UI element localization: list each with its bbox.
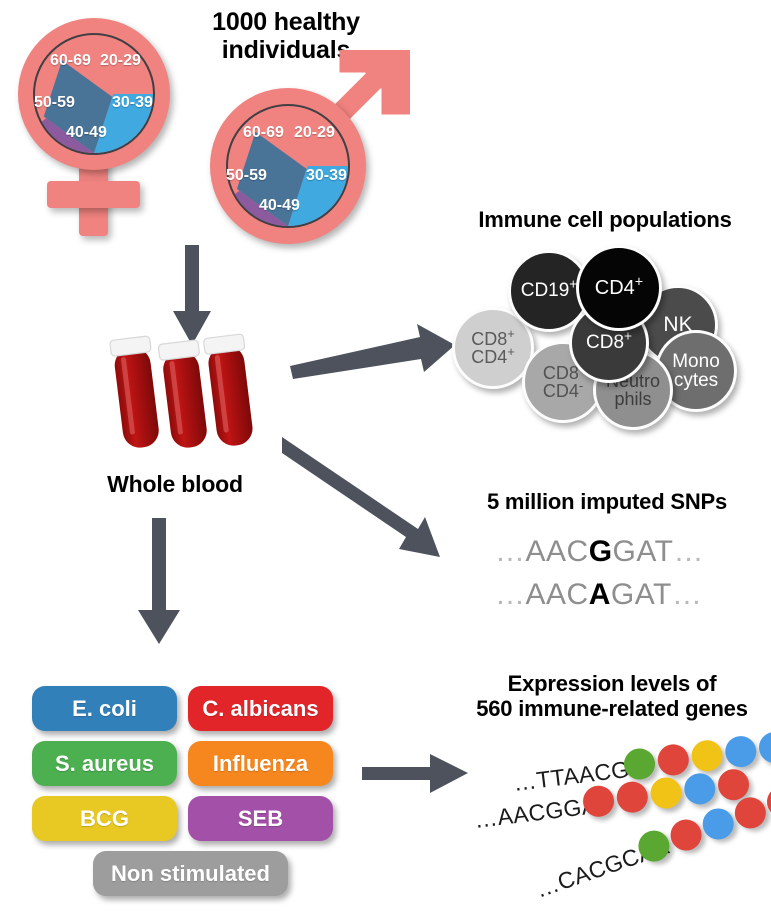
female-pie-label-50-59: 50-59 [34,94,75,112]
cell-label-line-2: CD4+ [471,348,515,366]
immune-cell-populations-title: Immune cell populations [455,208,755,233]
stimulus-label: BCG [80,806,129,832]
cell-label-line-2: phils [606,390,660,408]
cell-label: CD19+ [521,281,578,300]
arrow-blood-to-immune [290,318,460,388]
female-symbol-crossbar [47,181,140,208]
snp-left: AAC [526,578,589,611]
stimulus-c-albicans[interactable]: C. albicans [188,686,333,731]
expression-bead [666,815,705,854]
cell-label: CD8+ [586,333,632,352]
arrow-stimuli-to-expression [362,752,477,800]
stimulus-seb[interactable]: SEB [188,796,333,841]
male-pie-label-30-39: 30-39 [306,167,347,185]
stimulus-non-stimulated[interactable]: Non stimulated [93,851,288,896]
snp-variant-base: G [589,535,613,568]
male-pie-label-40-49: 40-49 [259,197,300,215]
expression-bead [757,730,771,765]
stimulus-influenza[interactable]: Influenza [188,741,333,786]
immune-cell-cluster: CD8+ CD4+ CD19+ CD4+ NK CD8+ Mono cytes … [450,245,750,420]
snp-left: AAC [526,535,589,568]
stimulus-label: Influenza [213,751,308,777]
snp-prefix: … [495,535,526,568]
snp-right: GAT [611,578,672,611]
stimulus-e-coli[interactable]: E. coli [32,686,177,731]
cell-label: CD4+ [595,278,643,298]
snp-suffix: … [673,535,704,568]
snp-variant-base: A [589,578,611,611]
whole-blood-tubes [95,330,275,460]
expression-bead [690,738,725,773]
cell-label-line-2: CD4- [543,382,583,400]
female-gender-symbol: 20-29 30-39 40-49 50-59 60-69 [8,8,203,238]
male-gender-symbol: 20-29 30-39 40-49 50-59 60-69 [200,50,410,250]
snps-title: 5 million imputed SNPs [462,490,752,515]
snp-sequence-row-2: …AACAGAT… [495,578,702,612]
female-pie-label-30-39: 30-39 [112,94,153,112]
snp-prefix: … [495,578,526,611]
stimulus-label: SEB [238,806,283,832]
stimulus-label: Non stimulated [111,861,270,887]
snp-right: GAT [613,535,674,568]
cell-cd4p: CD4+ [576,245,662,331]
male-pie-label-50-59: 50-59 [226,167,267,185]
cell-label-line-1: Mono [672,352,720,371]
snp-sequence-row-1: …AACGGAT… [495,535,704,569]
female-pie-label-60-69: 60-69 [50,52,91,70]
arrow-blood-to-stimuli [130,518,190,648]
stimulus-s-aureus[interactable]: S. aureus [32,741,177,786]
snp-suffix: … [672,578,703,611]
stimulus-label: S. aureus [55,751,154,777]
expression-title-line-1: Expression levels of [508,671,717,696]
expression-title-line-2: 560 immune-related genes [476,696,748,721]
stimulus-label: E. coli [72,696,137,722]
male-pie-label-60-69: 60-69 [243,124,284,142]
male-pie-label-20-29: 20-29 [294,124,335,142]
whole-blood-label: Whole blood [85,472,265,498]
expression-title: Expression levels of 560 immune-related … [462,672,762,721]
stimulus-bcg[interactable]: BCG [32,796,177,841]
female-pie-label-20-29: 20-29 [100,52,141,70]
cell-label-line-2: cytes [672,371,720,390]
diagram-canvas: 1000 healthy individuals 20-29 30-39 40-… [0,0,771,922]
stimulus-label: C. albicans [202,696,318,722]
female-pie-label-40-49: 40-49 [66,124,107,142]
expression-bead [656,743,691,778]
expression-bead [723,734,758,769]
arrow-blood-to-snps [282,437,457,562]
